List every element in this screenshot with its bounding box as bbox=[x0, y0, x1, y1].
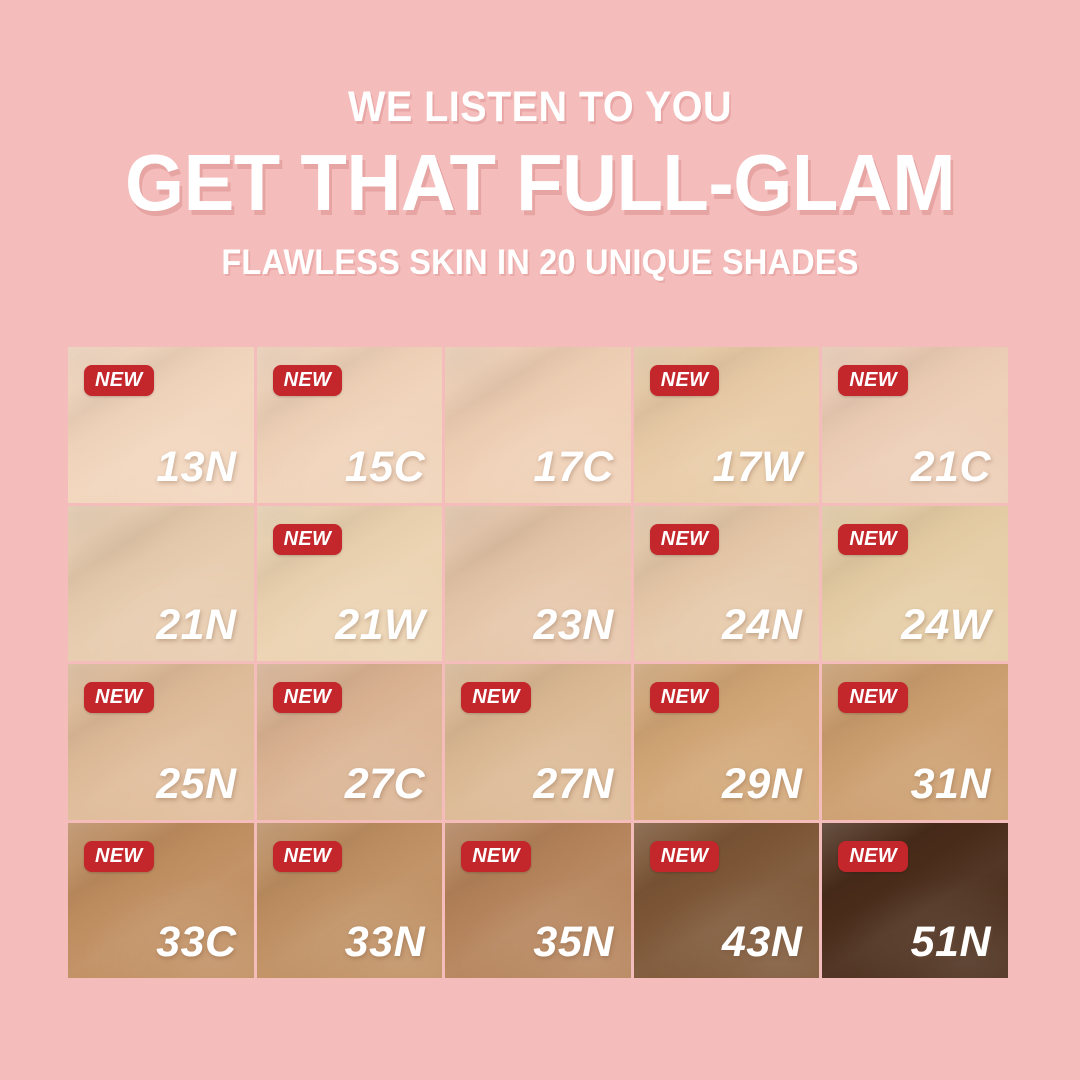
new-badge: NEW bbox=[838, 524, 908, 555]
page-title: GET THAT FULL-GLAM bbox=[27, 143, 1053, 223]
new-badge: NEW bbox=[838, 682, 908, 713]
shade-swatch[interactable]: NEW27C bbox=[257, 664, 443, 820]
shade-code-label: 17W bbox=[712, 446, 802, 489]
shade-swatch[interactable]: NEW15C bbox=[257, 347, 443, 503]
shade-swatch[interactable]: NEW23N bbox=[445, 506, 631, 662]
shade-code-label: 15C bbox=[345, 446, 425, 489]
shade-swatch[interactable]: NEW17W bbox=[634, 347, 820, 503]
shade-swatch[interactable]: NEW33N bbox=[257, 823, 443, 979]
shade-swatch[interactable]: NEW21W bbox=[257, 506, 443, 662]
shade-swatch[interactable]: NEW25N bbox=[68, 664, 254, 820]
shade-code-label: 21N bbox=[156, 604, 236, 647]
shade-range-poster: WE LISTEN TO YOU GET THAT FULL-GLAM FLAW… bbox=[0, 0, 1080, 1080]
shade-code-label: 21W bbox=[335, 604, 425, 647]
shade-code-label: 43N bbox=[722, 921, 802, 964]
shade-swatch[interactable]: NEW35N bbox=[445, 823, 631, 979]
subtitle-text: FLAWLESS SKIN IN 20 UNIQUE SHADES bbox=[38, 245, 1042, 280]
new-badge: NEW bbox=[838, 841, 908, 872]
new-badge: NEW bbox=[84, 365, 154, 396]
shade-code-label: 25N bbox=[156, 763, 236, 806]
shade-code-label: 13N bbox=[156, 446, 236, 489]
new-badge: NEW bbox=[461, 841, 531, 872]
new-badge: NEW bbox=[273, 365, 343, 396]
shade-code-label: 29N bbox=[722, 763, 802, 806]
shade-code-label: 33C bbox=[156, 921, 236, 964]
new-badge: NEW bbox=[650, 365, 720, 396]
shade-swatch[interactable]: NEW29N bbox=[634, 664, 820, 820]
shade-code-label: 21C bbox=[911, 446, 991, 489]
new-badge: NEW bbox=[650, 524, 720, 555]
new-badge: NEW bbox=[273, 682, 343, 713]
new-badge: NEW bbox=[84, 841, 154, 872]
new-badge: NEW bbox=[461, 682, 531, 713]
shade-code-label: 24W bbox=[901, 604, 991, 647]
new-badge: NEW bbox=[650, 841, 720, 872]
shade-code-label: 33N bbox=[345, 921, 425, 964]
shade-swatch[interactable]: NEW17C bbox=[445, 347, 631, 503]
new-badge: NEW bbox=[273, 524, 343, 555]
shade-swatch[interactable]: NEW24N bbox=[634, 506, 820, 662]
shade-swatch[interactable]: NEW51N bbox=[822, 823, 1008, 979]
shade-swatch[interactable]: NEW43N bbox=[634, 823, 820, 979]
shade-code-label: 17C bbox=[533, 446, 613, 489]
shade-swatch[interactable]: NEW33C bbox=[68, 823, 254, 979]
shade-swatch[interactable]: NEW21C bbox=[822, 347, 1008, 503]
shade-code-label: 31N bbox=[911, 763, 991, 806]
new-badge: NEW bbox=[838, 365, 908, 396]
shade-swatch[interactable]: NEW24W bbox=[822, 506, 1008, 662]
shade-code-label: 24N bbox=[722, 604, 802, 647]
shade-code-label: 23N bbox=[533, 604, 613, 647]
shade-swatch[interactable]: NEW27N bbox=[445, 664, 631, 820]
eyebrow-text: WE LISTEN TO YOU bbox=[43, 86, 1037, 129]
shade-swatch[interactable]: NEW21N bbox=[68, 506, 254, 662]
new-badge: NEW bbox=[273, 841, 343, 872]
shade-swatch[interactable]: NEW31N bbox=[822, 664, 1008, 820]
new-badge: NEW bbox=[650, 682, 720, 713]
shade-code-label: 51N bbox=[911, 921, 991, 964]
new-badge: NEW bbox=[84, 682, 154, 713]
shade-code-label: 27C bbox=[345, 763, 425, 806]
shade-code-label: 27N bbox=[533, 763, 613, 806]
shade-swatch-grid: NEW13NNEW15CNEW17CNEW17WNEW21CNEW21NNEW2… bbox=[68, 347, 1008, 978]
header-block: WE LISTEN TO YOU GET THAT FULL-GLAM FLAW… bbox=[0, 86, 1080, 280]
shade-swatch[interactable]: NEW13N bbox=[68, 347, 254, 503]
shade-code-label: 35N bbox=[533, 921, 613, 964]
